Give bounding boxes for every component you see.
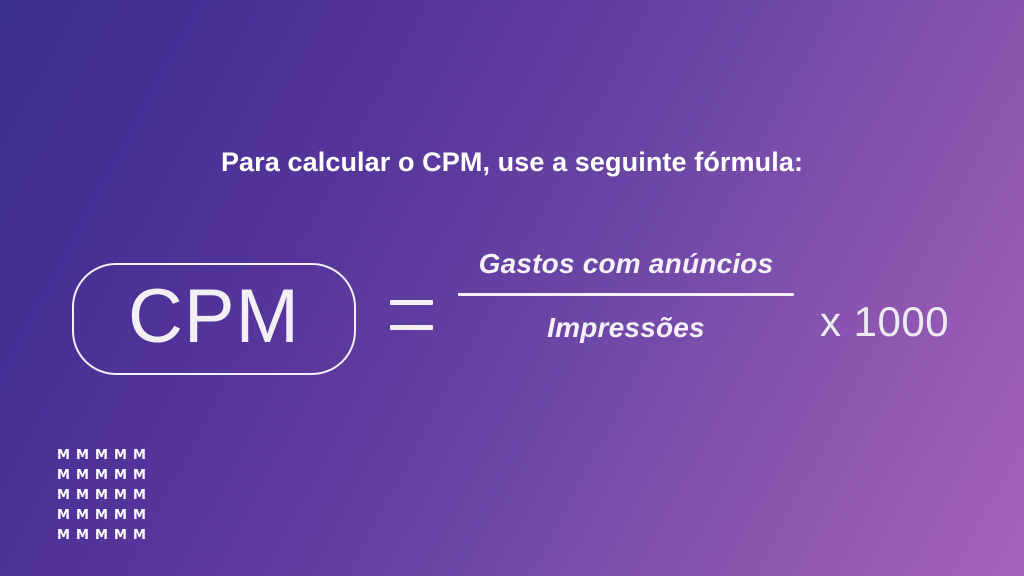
watermark-glyph: M <box>114 466 133 486</box>
watermark-glyph: M <box>114 486 133 506</box>
watermark-glyph: M <box>133 466 152 486</box>
fraction-denominator: Impressões <box>452 312 800 344</box>
watermark-glyph: M <box>133 526 152 546</box>
cpm-term-label: CPM <box>74 265 354 373</box>
brand-watermark-grid: MMMMMMMMMMMMMMMMMMMMMMMMM <box>57 446 152 546</box>
multiplier-label: x 1000 <box>820 298 949 346</box>
watermark-glyph: M <box>133 446 152 466</box>
watermark-glyph: M <box>114 526 133 546</box>
watermark-glyph: M <box>114 446 133 466</box>
watermark-glyph: M <box>133 486 152 506</box>
watermark-glyph: M <box>76 486 95 506</box>
watermark-glyph: M <box>95 446 114 466</box>
formula-expression: CPM Gastos com anúncios Impressões x 100… <box>0 240 1024 400</box>
fraction-numerator: Gastos com anúncios <box>452 248 800 280</box>
watermark-glyph: M <box>57 466 76 486</box>
watermark-glyph: M <box>133 506 152 526</box>
cpm-term-box: CPM <box>72 263 356 375</box>
equals-bar-bottom <box>390 325 433 330</box>
watermark-glyph: M <box>114 506 133 526</box>
equals-sign-icon <box>390 300 433 332</box>
fraction: Gastos com anúncios Impressões <box>452 248 800 344</box>
watermark-glyph: M <box>95 466 114 486</box>
watermark-glyph: M <box>57 486 76 506</box>
equals-bar-top <box>390 300 433 305</box>
watermark-glyph: M <box>57 446 76 466</box>
fraction-bar <box>458 293 794 296</box>
watermark-glyph: M <box>76 506 95 526</box>
page-title: Para calcular o CPM, use a seguinte fórm… <box>0 147 1024 178</box>
watermark-glyph: M <box>57 526 76 546</box>
watermark-glyph: M <box>95 506 114 526</box>
watermark-glyph: M <box>76 466 95 486</box>
watermark-glyph: M <box>57 506 76 526</box>
watermark-glyph: M <box>76 446 95 466</box>
watermark-glyph: M <box>76 526 95 546</box>
watermark-glyph: M <box>95 526 114 546</box>
watermark-glyph: M <box>95 486 114 506</box>
slide-canvas: Para calcular o CPM, use a seguinte fórm… <box>0 0 1024 576</box>
